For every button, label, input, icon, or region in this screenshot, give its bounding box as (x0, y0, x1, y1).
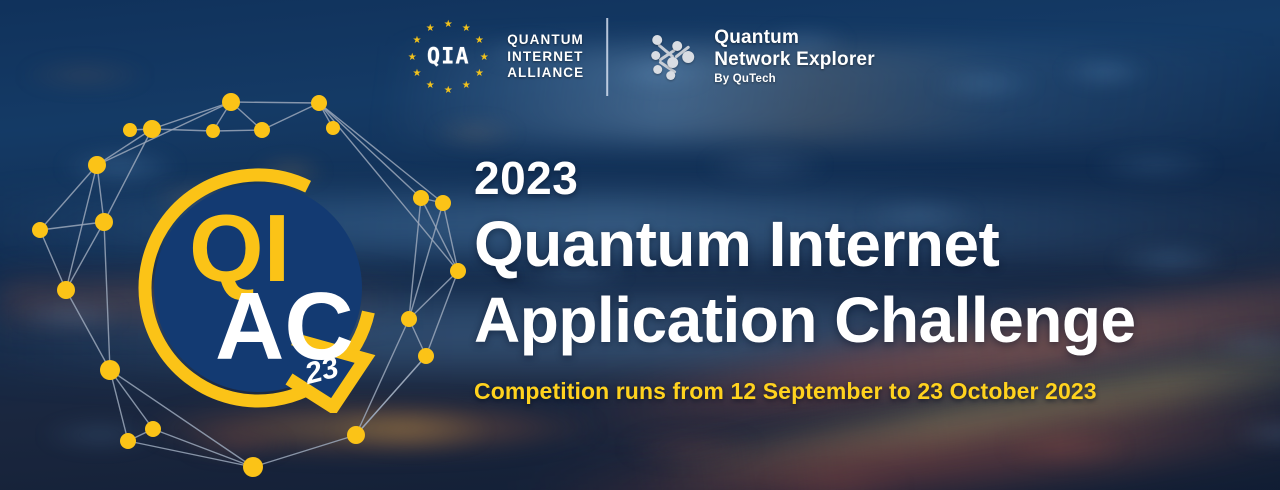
qia-emblem: ★★★★★★★★★★★★ QIA (405, 19, 491, 95)
qia-word-line3: ALLIANCE (507, 65, 584, 82)
network-node (120, 433, 136, 449)
qiac-banner: QI AC 23 ★★★★★★★★★★★★ QIA QUANTUM INTERN… (0, 0, 1280, 490)
headline-line-2: Application Challenge (474, 282, 1264, 358)
qia-word-line2: INTERNET (507, 49, 584, 66)
qne-logo[interactable]: Quantum Network Explorer By QuTech (634, 27, 875, 87)
eu-star: ★ (444, 86, 453, 95)
eu-star: ★ (426, 81, 435, 90)
network-node (123, 123, 137, 137)
qia-emblem-text: QIA (427, 45, 470, 70)
qia-wordmark: QUANTUM INTERNET ALLIANCE (507, 32, 584, 82)
network-node (326, 121, 340, 135)
eu-star: ★ (480, 53, 489, 62)
eu-star: ★ (408, 53, 417, 62)
qia-word-line1: QUANTUM (507, 32, 584, 49)
network-node (254, 122, 270, 138)
network-node (413, 190, 429, 206)
network-nodes-icon (648, 29, 700, 85)
network-node (206, 124, 220, 138)
eu-star: ★ (413, 36, 422, 45)
headline-line-1: Quantum Internet (474, 206, 1264, 282)
network-node (347, 426, 365, 444)
eu-star: ★ (475, 36, 484, 45)
network-node (32, 222, 48, 238)
year-label: 2023 (474, 150, 1264, 206)
network-node (145, 421, 161, 437)
header-logos: ★★★★★★★★★★★★ QIA QUANTUM INTERNET ALLIAN… (0, 18, 1280, 98)
qne-wordmark: Quantum Network Explorer By QuTech (714, 27, 875, 87)
headline-block: 2023 Quantum Internet Application Challe… (474, 150, 1264, 406)
network-node (435, 195, 451, 211)
eu-star: ★ (413, 69, 422, 78)
qia-logo[interactable]: ★★★★★★★★★★★★ QIA QUANTUM INTERNET ALLIAN… (405, 19, 606, 95)
eu-star: ★ (475, 69, 484, 78)
eu-star: ★ (444, 20, 453, 29)
network-node (418, 348, 434, 364)
network-node (57, 281, 75, 299)
network-node (88, 156, 106, 174)
network-node (450, 263, 466, 279)
network-node (95, 213, 113, 231)
qne-line2: Network Explorer (714, 49, 875, 71)
network-node (401, 311, 417, 327)
logo-row: ★★★★★★★★★★★★ QIA QUANTUM INTERNET ALLIAN… (405, 18, 875, 96)
network-node (243, 457, 263, 477)
logo-divider (606, 18, 608, 96)
eu-star: ★ (462, 24, 471, 33)
qiac-logo: QI AC 23 (133, 163, 383, 413)
qne-line1: Quantum (714, 27, 875, 49)
competition-dates: Competition runs from 12 September to 23… (474, 376, 1264, 406)
eu-star: ★ (462, 81, 471, 90)
network-node (100, 360, 120, 380)
qne-line3: By QuTech (714, 72, 875, 87)
eu-star: ★ (426, 24, 435, 33)
network-node (143, 120, 161, 138)
